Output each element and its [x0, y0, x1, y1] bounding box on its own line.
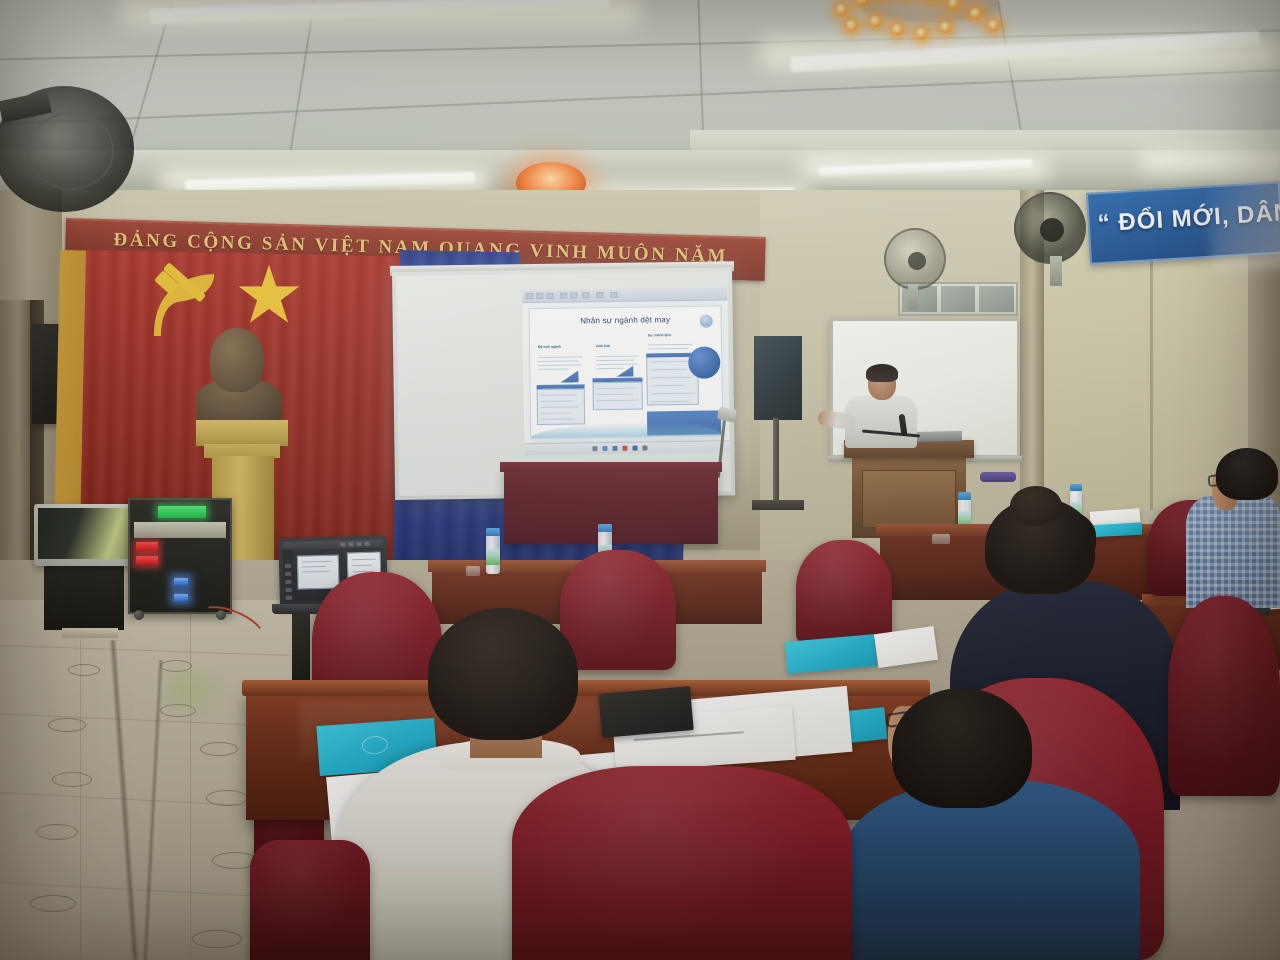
slide-text-line: [538, 369, 568, 371]
folder-emblem: [361, 735, 388, 755]
laptop-sidebar[interactable]: [283, 550, 294, 602]
taskbar-icon[interactable]: [602, 446, 607, 451]
taskbar-icon[interactable]: [632, 446, 637, 451]
fan-mount: [1050, 256, 1062, 286]
conference-room-photo: “ ĐỔI MỚI, DÂN ĐẢNG CỘNG SẢN VIỆT NAM QU…: [0, 0, 1280, 960]
attendee-body: [840, 780, 1140, 960]
toolbar-button[interactable]: [570, 292, 577, 298]
rack-unit: [134, 522, 226, 538]
slide-text-line: [538, 360, 578, 362]
slide-text-line: [648, 344, 692, 346]
text-line: [302, 566, 326, 568]
ceiling-light-glow: [1140, 150, 1280, 172]
floor-motif: [200, 742, 238, 756]
bag-on-ledge: [980, 472, 1016, 482]
rack-led-blue: [174, 578, 188, 585]
bottle-label: [486, 549, 500, 565]
drinking-glass: [466, 566, 480, 576]
chair: [796, 540, 892, 644]
attendee-body: [1186, 496, 1280, 608]
bottle-cap: [486, 528, 500, 536]
toolbar-button[interactable]: [596, 292, 603, 298]
rack-led-red: [136, 542, 158, 551]
black-notebook: [598, 686, 693, 738]
floor-motif: [206, 790, 248, 806]
slide-text-line: [596, 368, 624, 369]
chandelier-bulb: [892, 24, 903, 35]
laptop-document-pane[interactable]: [297, 555, 340, 590]
star-icon: [236, 262, 302, 328]
chandelier-bulb: [846, 20, 857, 31]
floor-motif: [36, 824, 78, 840]
titlebar-icon[interactable]: [340, 542, 345, 546]
rack-caster: [134, 610, 144, 620]
slide-title: Nhân sự ngành dệt may: [530, 314, 721, 326]
text-line: [352, 559, 376, 561]
text-line: [302, 561, 332, 563]
chandelier-bulb: [970, 8, 981, 19]
slide-text-line: [538, 356, 582, 358]
floor-motif: [192, 930, 242, 948]
slide-text-line: [538, 364, 581, 366]
hammer-sickle-icon: [142, 262, 228, 348]
text-line: [302, 571, 330, 573]
taskbar-icon[interactable]: [642, 445, 647, 450]
pedestal-top: [196, 420, 288, 446]
slide-heading-mid: Giới tính: [596, 344, 630, 349]
laptop-titlebar: [282, 539, 382, 549]
equipment-shelf: [62, 628, 118, 638]
sign-glare: [1207, 171, 1280, 272]
rack-lcd-display: [158, 506, 206, 518]
titlebar-icon[interactable]: [356, 542, 361, 546]
slide-text-line: [648, 348, 688, 350]
chair: [560, 550, 676, 670]
chair: [250, 840, 370, 960]
slide-heading-right: Sự chênh lệch: [648, 333, 688, 338]
chandelier-bulb: [988, 20, 999, 31]
presentation-toolbar[interactable]: [522, 287, 727, 303]
toolbar-button[interactable]: [610, 292, 617, 298]
text-line: [352, 565, 372, 566]
presenter-hair: [866, 364, 898, 382]
taskbar-icon[interactable]: [612, 446, 617, 451]
fan-hub: [908, 252, 926, 270]
attendee-hair-bun: [1010, 486, 1062, 526]
drinking-glass: [932, 534, 950, 544]
sidebar-icon[interactable]: [286, 596, 292, 600]
sidebar-icon[interactable]: [285, 564, 291, 568]
audio-rack: [128, 498, 232, 614]
toolbar-button[interactable]: [526, 293, 533, 299]
slide-canvas: Nhân sự ngành dệt may Độ tuổi ngành: [529, 305, 724, 439]
toolbar-button[interactable]: [536, 293, 543, 299]
slide-text-line: [596, 364, 637, 366]
floor-motif: [68, 664, 100, 676]
taskbar[interactable]: [524, 440, 729, 455]
fan-mount: [908, 284, 918, 310]
draped-table-top: [500, 462, 722, 472]
chandelier-bulb: [870, 16, 881, 27]
sidebar-icon[interactable]: [285, 572, 291, 576]
chair: [512, 766, 852, 960]
toolbar-button[interactable]: [582, 292, 589, 298]
slide-panel: [593, 382, 643, 411]
speaker-stand: [773, 418, 779, 510]
attendee-hair: [428, 608, 578, 740]
fan-hub: [1040, 218, 1064, 242]
projected-slide: Nhân sự ngành dệt may Độ tuổi ngành: [522, 287, 729, 455]
bottle-cap: [1070, 484, 1082, 491]
attendee-hair: [892, 688, 1032, 808]
bottle-cap: [598, 524, 612, 532]
slide-circle-callout: [688, 346, 720, 378]
sidebar-icon[interactable]: [285, 580, 291, 584]
equipment-cabinet: [44, 566, 124, 630]
slide-text-line: [596, 360, 634, 362]
slide-arrow-shape: [560, 370, 578, 382]
slide-logo-icon: [700, 315, 713, 328]
titlebar-icon[interactable]: [364, 542, 369, 546]
slide-text-line: [596, 356, 638, 358]
floor-motif: [48, 718, 86, 732]
sidebar-icon[interactable]: [286, 588, 292, 592]
fan-cage-ring: [28, 112, 114, 190]
rack-led-red: [136, 556, 158, 565]
monitor: [34, 504, 134, 566]
taskbar-icon[interactable]: [592, 446, 597, 451]
chandelier-bulb: [940, 22, 951, 33]
podium-panel: [862, 470, 956, 528]
floor-motif: [52, 772, 92, 787]
speaker: [754, 336, 802, 420]
window-pane: [979, 286, 1014, 312]
bust-head: [210, 328, 264, 392]
toolbar-button[interactable]: [560, 293, 567, 299]
chandelier-bulb: [916, 28, 927, 39]
wall-fan-icon: [1014, 192, 1086, 264]
taskbar-icon[interactable]: [622, 446, 627, 451]
floor-motif: [30, 895, 76, 912]
bottle-cap: [958, 492, 971, 500]
titlebar-icon[interactable]: [348, 542, 353, 546]
rack-led-blue: [174, 594, 188, 601]
slide-heading-left: Độ tuổi ngành: [538, 344, 576, 349]
window-pane: [941, 286, 976, 312]
speaker-base: [752, 500, 804, 510]
monitor-screen: [38, 508, 130, 559]
water-bottle: [486, 528, 500, 574]
toolbar-button[interactable]: [546, 293, 553, 299]
wall-fan-icon: [884, 228, 946, 290]
chandelier: [830, 0, 1030, 48]
wall-sign-blue: “ ĐỔI MỚI, DÂN: [1086, 181, 1280, 264]
chair: [1168, 596, 1280, 796]
chandelier-bulb: [836, 4, 847, 15]
